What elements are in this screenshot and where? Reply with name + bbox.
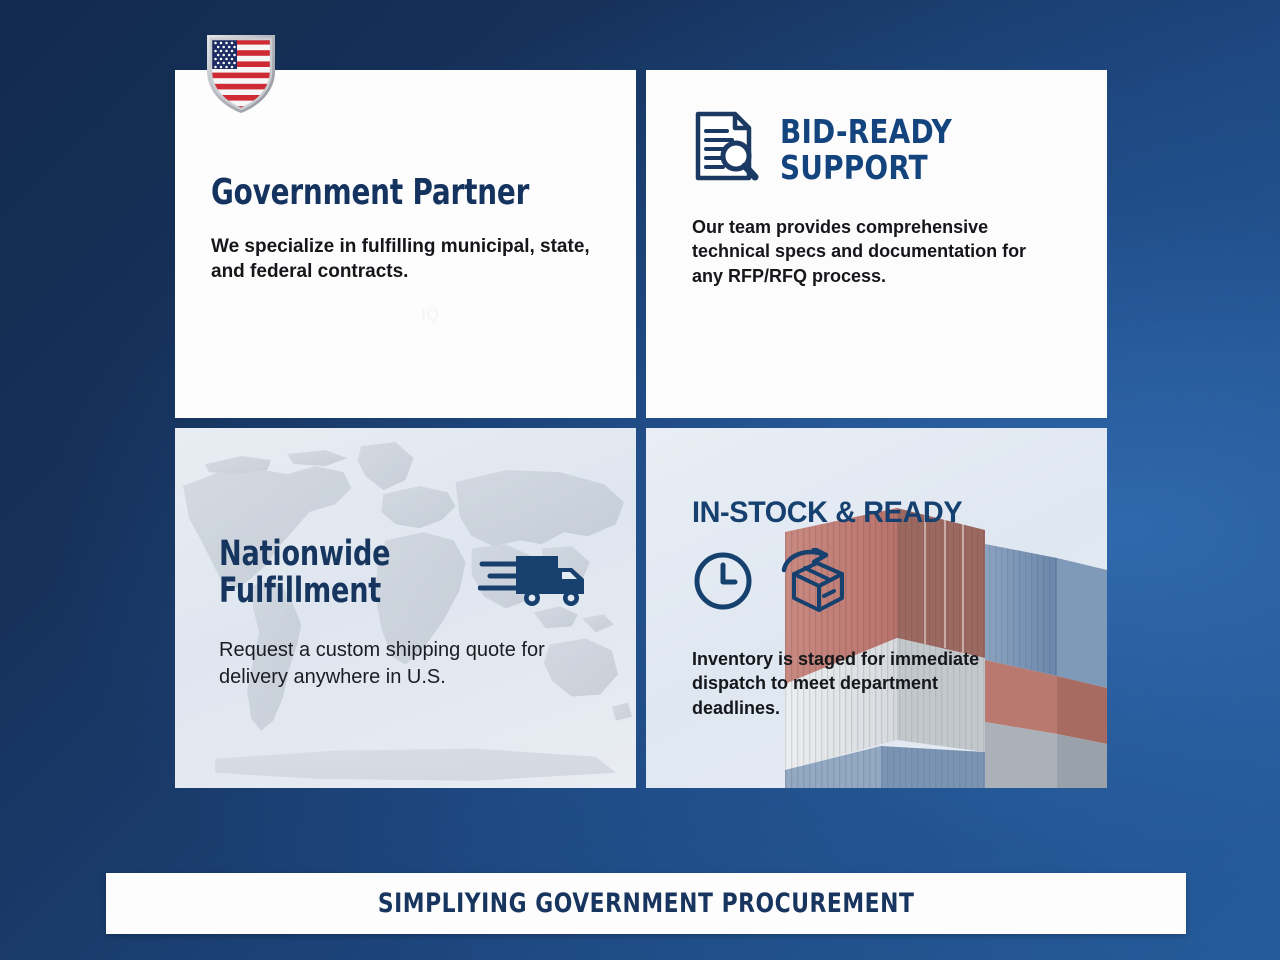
delivery-truck-icon (478, 550, 588, 608)
bid-ready-header: BID-READY SUPPORT (692, 110, 1073, 187)
bid-ready-title-line1: BID-READY (780, 114, 952, 150)
return-box-icon (776, 548, 850, 619)
government-partner-title: Government Partner (211, 174, 542, 212)
card-nationwide-fulfillment[interactable]: Nationwide Fulfillment Request a custom … (175, 428, 636, 788)
nationwide-fulfillment-body: Request a custom shipping quote for deli… (219, 637, 609, 692)
bottom-banner-text: SIMPLIYING GOVERNMENT PROCUREMENT (378, 888, 915, 919)
in-stock-ready-title: IN-STOCK & READY (692, 496, 1090, 530)
bottom-banner[interactable]: SIMPLIYING GOVERNMENT PROCUREMENT (106, 873, 1186, 934)
card-government-partner[interactable]: Government Partner We specialize in fulf… (175, 70, 636, 418)
bid-ready-body: Our team provides comprehensive technica… (692, 215, 1048, 288)
in-stock-ready-icons (692, 548, 1107, 619)
us-flag-shield-icon (205, 31, 277, 113)
document-magnifier-icon (692, 110, 760, 187)
faint-watermark-artifact: IQ (421, 305, 481, 327)
in-stock-ready-body: Inventory is staged for immediate dispat… (692, 647, 1028, 720)
clock-icon (692, 550, 754, 617)
in-stock-ready-content: IN-STOCK & READY (692, 496, 1107, 720)
government-partner-body: We specialize in fulfilling municipal, s… (211, 234, 596, 284)
card-bid-ready-support[interactable]: BID-READY SUPPORT Our team provides comp… (646, 70, 1107, 418)
bid-ready-title: BID-READY SUPPORT (780, 110, 952, 185)
bid-ready-title-line2: SUPPORT (780, 150, 952, 186)
card-in-stock-ready[interactable]: IN-STOCK & READY (646, 428, 1107, 788)
feature-card-grid: Government Partner We specialize in fulf… (175, 70, 1107, 788)
